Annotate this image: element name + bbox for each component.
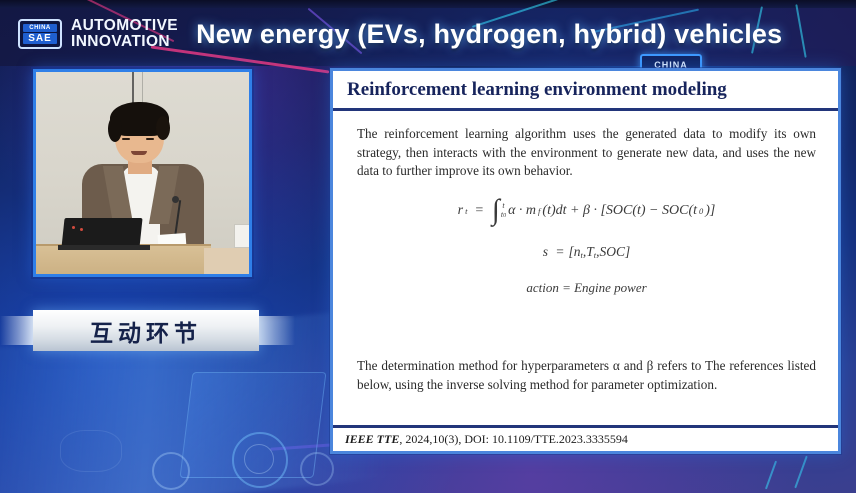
background-top-strip	[0, 0, 856, 8]
presentation-screen: CHINA SAE AUTOMOTIVE INNOVATION New ener…	[0, 0, 856, 493]
microphone-head	[172, 196, 179, 203]
decor-hud-ring	[244, 444, 274, 474]
slide-footer: IEEE TTE, 2024,10(3), DOI: 10.1109/TTE.2…	[333, 425, 838, 451]
interaction-banner: 互动环节	[33, 310, 259, 351]
equation-1-body-b: (t)dt + β · [SOC(t) − SOC(t	[542, 203, 697, 219]
equation-2-lhs: s	[543, 244, 548, 259]
header-bar: CHINA SAE AUTOMOTIVE INNOVATION New ener…	[0, 8, 856, 60]
decor-hud-ring	[152, 452, 190, 490]
equation-state: s =[nt,Tt,SOC]	[357, 244, 816, 260]
equation-action: action = Engine power	[357, 280, 816, 296]
integral-lower-limit: t0	[501, 211, 506, 219]
integral-symbol-icon: ∫ t t0	[491, 199, 506, 222]
speaker-eye-right	[146, 138, 154, 140]
speaker-eye-left	[122, 138, 130, 140]
brand-line-1: AUTOMOTIVE	[71, 18, 178, 34]
decor-wall-switch	[234, 224, 249, 248]
equation-2-rhs: [n	[568, 244, 580, 259]
equation-reward: rt = ∫ t t0 α · mf(t)dt + β · [SOC(t) − …	[357, 199, 816, 222]
slide-title-bar: Reinforcement learning environment model…	[333, 71, 838, 111]
speaker-hair-side-left	[108, 116, 122, 142]
slide-paragraph-bottom-wrap: The determination method for hyperparame…	[357, 357, 816, 394]
equation-1-lhs: r	[458, 203, 463, 219]
sae-china-label: CHINA	[23, 24, 57, 32]
camera-feed-image	[36, 72, 249, 274]
speaker-mouth	[131, 151, 147, 155]
sae-logo: CHINA SAE AUTOMOTIVE INNOVATION	[18, 18, 178, 50]
slide-paragraph-top: The reinforcement learning algorithm use…	[357, 125, 816, 181]
equation-2-tail: ,SOC]	[596, 244, 630, 259]
citation-journal: IEEE TTE	[345, 432, 399, 446]
equation-2-mid: ,T	[583, 244, 594, 259]
laptop-base	[58, 245, 150, 250]
laptop-led	[72, 226, 75, 229]
citation-detail: , 2024,10(3), DOI: 10.1109/TTE.2023.3335…	[399, 432, 628, 446]
sae-logo-mark: CHINA SAE	[18, 19, 62, 49]
equation-1-body-a-sub: f	[538, 206, 540, 216]
interaction-banner-label: 互动环节	[90, 314, 202, 348]
citation: IEEE TTE, 2024,10(3), DOI: 10.1109/TTE.2…	[345, 432, 628, 447]
slide-paragraph-bottom: The determination method for hyperparame…	[357, 357, 816, 394]
brand-line-2: INNOVATION	[71, 34, 178, 50]
equation-1-body-b-sub: 0	[699, 206, 703, 216]
laptop-led	[80, 228, 83, 231]
page-title: New energy (EVs, hydrogen, hybrid) vehic…	[196, 19, 782, 50]
speaker-hair-side-right	[156, 116, 170, 140]
equation-1-body-a: α · m	[508, 203, 536, 219]
decor-hud-ring	[300, 452, 334, 486]
decor-hud-ring	[60, 430, 122, 472]
speaker-camera-feed[interactable]	[33, 69, 252, 277]
sae-abbrev-label: SAE	[23, 33, 57, 44]
equation-1-equals: =	[474, 203, 483, 219]
laptop-screen	[61, 218, 142, 248]
slide-panel[interactable]: Reinforcement learning environment model…	[330, 68, 841, 454]
podium-side	[204, 248, 249, 274]
slide-body: The reinforcement learning algorithm use…	[333, 111, 838, 425]
slide-title: Reinforcement learning environment model…	[347, 79, 727, 101]
equation-1-lhs-sub: t	[465, 206, 467, 216]
equation-2-equals: =	[555, 244, 564, 259]
brand-wordmark: AUTOMOTIVE INNOVATION	[71, 18, 178, 50]
equation-1-body-c: )]	[705, 203, 715, 219]
